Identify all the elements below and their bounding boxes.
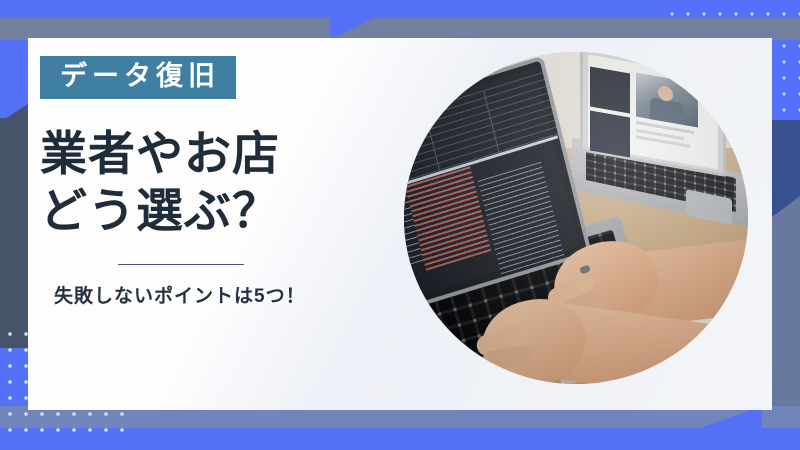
- decoration-top-band-notch: [330, 18, 374, 40]
- page-title: 業者やお店 どう選ぶ？: [40, 125, 390, 240]
- hero-photo: [404, 52, 748, 384]
- headline-line-2: どう選ぶ？: [40, 182, 390, 239]
- photo-vignette: [404, 52, 748, 384]
- text-column: データ復旧 業者やお店 どう選ぶ？ 失敗しないポイントは5つ！: [40, 56, 390, 308]
- headline-line-1: 業者やお店: [40, 125, 390, 182]
- divider: [118, 264, 244, 265]
- decoration-top-band: [0, 18, 800, 40]
- category-badge: データ復旧: [40, 56, 236, 99]
- subtitle: 失敗しないポイントは5つ！: [40, 281, 390, 308]
- banner-thumbnail: データ復旧 業者やお店 どう選ぶ？ 失敗しないポイントは5つ！: [0, 0, 800, 450]
